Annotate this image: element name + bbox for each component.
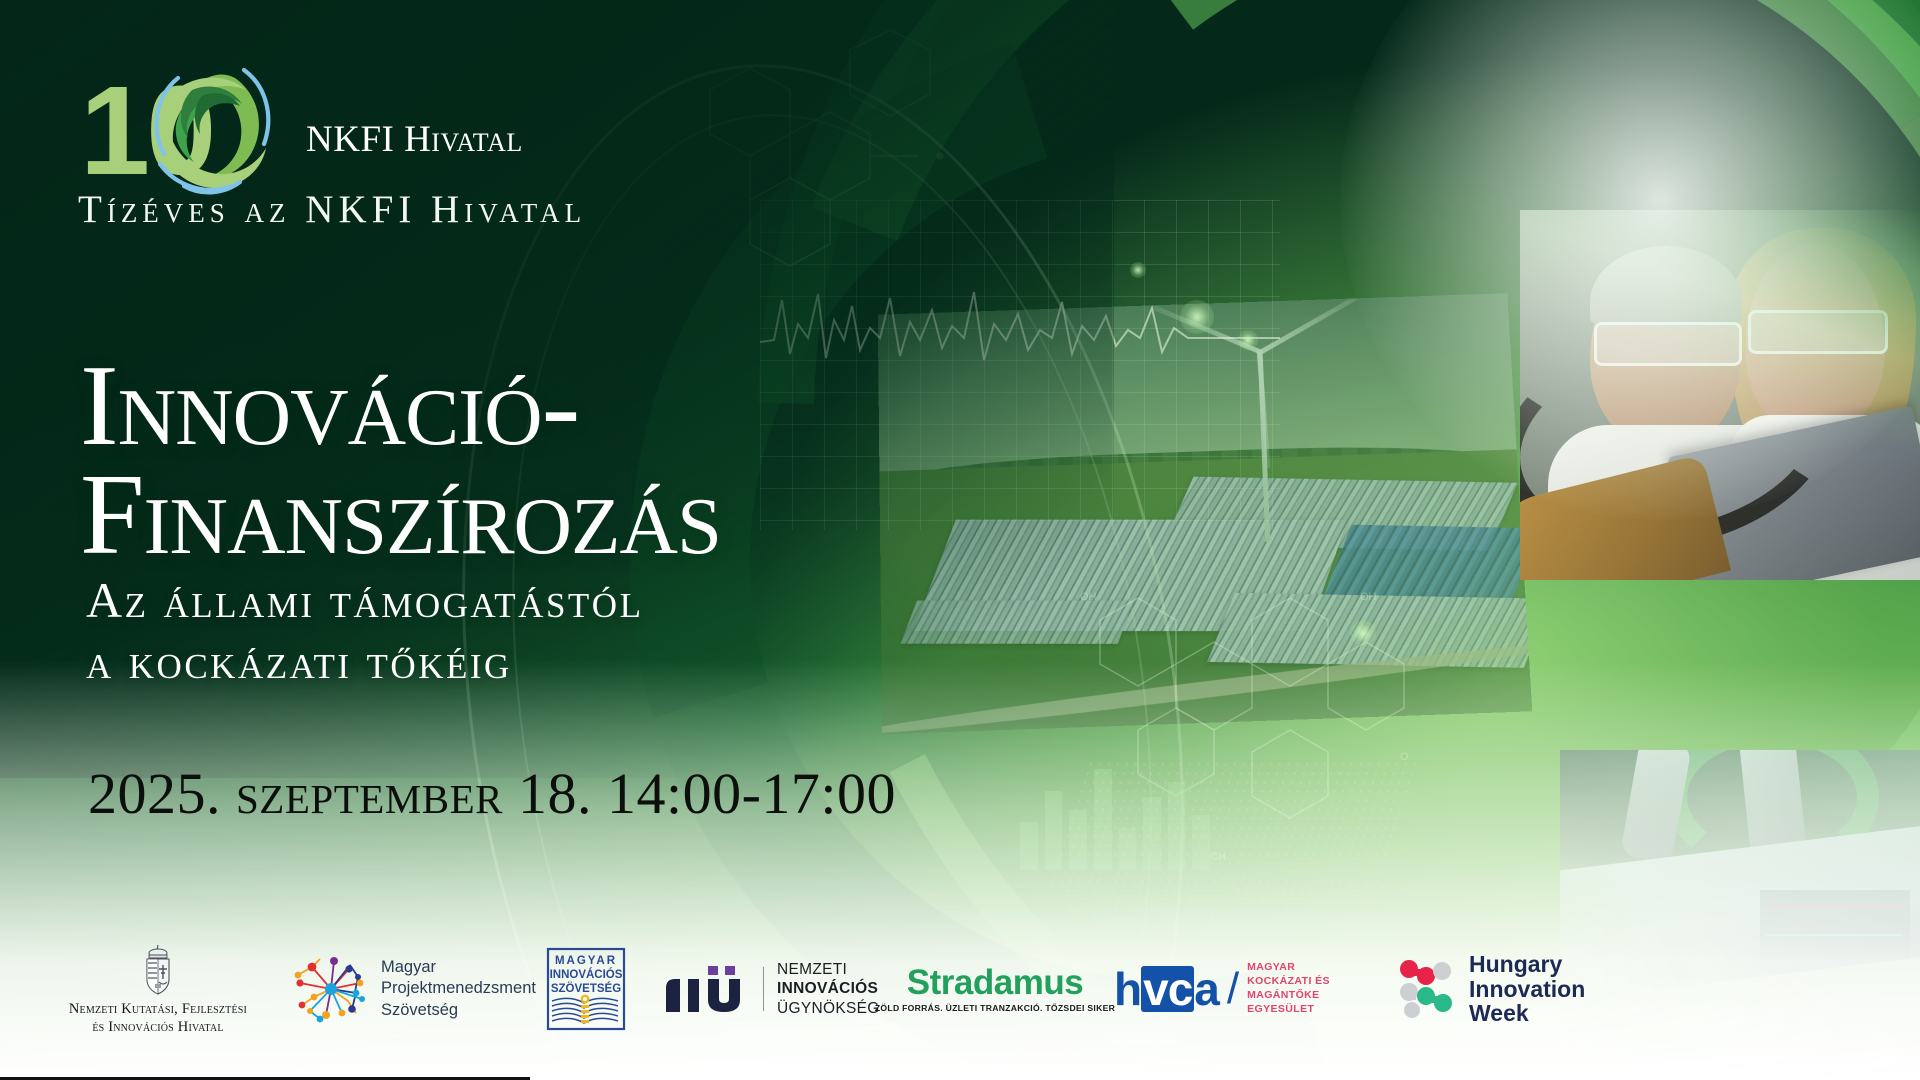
divider (763, 967, 764, 1011)
network-nodes-icon (290, 953, 372, 1025)
page-subtitle: Az állami támogatástól a kockázati tőkéi… (86, 570, 986, 692)
subtitle-line-1: Az állami támogatástól (86, 570, 986, 631)
partner-name-line: ÜGYNÖKSÉG (777, 999, 880, 1019)
partner-name-line: Szövetség (381, 1000, 536, 1021)
partner-logo-hvca: hvca / MAGYAR KOCKÁZATI ÉS MAGÁNTŐKE EGY… (1114, 961, 1362, 1016)
partner-logo-hungary-innovation-week: Hungary Innovation Week (1396, 952, 1616, 1025)
hungary-coat-of-arms-icon (136, 941, 180, 997)
brand-block: 10 (78, 58, 838, 232)
partner-name-line: Innovation (1469, 977, 1585, 1001)
hvca-letter-h: h (1114, 966, 1141, 1012)
partner-name-line: NEMZETI (777, 960, 880, 980)
title-line-1: Innováció- (80, 352, 1100, 461)
hvca-subtitle: MAGYAR KOCKÁZATI ÉS MAGÁNTŐKE EGYESÜLET (1247, 961, 1362, 1016)
partner-name-mpsz: Magyar Projektmenedzsment Szövetség (381, 957, 536, 1021)
open-book-icon: MAGYAR INNOVÁCIÓS SZÖVETSÉG (546, 947, 626, 1031)
partner-logo-stradamus: Stradamus ZÖLD FORRÁS. ÜZLETI TRANZAKCIÓ… (910, 965, 1080, 1013)
brand-org-name: NKFI Hivatal (306, 118, 523, 183)
svg-text:INNOVÁCIÓS: INNOVÁCIÓS (550, 968, 623, 981)
partner-logo-misz: MAGYAR INNOVÁCIÓS SZÖVETSÉG (546, 947, 630, 1031)
partner-name-line: Hungary (1469, 952, 1585, 976)
event-datetime: 2025. szeptember 18. 14:00-17:00 (88, 760, 896, 827)
anniversary-10-logo: 10 (78, 58, 298, 183)
partner-name-line: MAGYAR KOCKÁZATI ÉS (1247, 961, 1362, 989)
partner-logo-strip: Nemzeti Kutatási, Fejlesztési és Innovác… (60, 930, 1590, 1048)
partner-name-line: Week (1469, 1001, 1585, 1025)
svg-text:SZÖVETSÉG: SZÖVETSÉG (551, 982, 621, 995)
partner-name-line: és Innovációs Hivatal (69, 1019, 247, 1037)
event-poster: OH OH CH O (0, 0, 1920, 1080)
four-dots-cluster-icon (1396, 958, 1458, 1020)
niu-wordmark-icon (664, 966, 750, 1012)
hvca-letter-a: a (1194, 966, 1219, 1012)
partner-name-line: MAGÁNTŐKE EGYESÜLET (1247, 989, 1362, 1017)
hvca-wordmark: hvca (1114, 966, 1219, 1012)
partner-logo-nkfi: Nemzeti Kutatási, Fejlesztési és Innovác… (60, 941, 256, 1036)
hvca-letters-vc: vc (1141, 966, 1194, 1012)
stradamus-tagline: ZÖLD FORRÁS. ÜZLETI TRANZAKCIÓ. TŐZSDEI … (875, 1003, 1115, 1013)
partner-name-line: INNOVÁCIÓS (777, 979, 880, 999)
title-line-2: Finanszírozás (80, 461, 1100, 570)
partner-name-line: Magyar (381, 957, 536, 978)
svg-text:MAGYAR: MAGYAR (555, 955, 617, 967)
page-title: Innováció- Finanszírozás (80, 352, 1100, 570)
subtitle-line-2: a kockázati tőkéig (86, 631, 986, 692)
partner-logo-niu: NEMZETI INNOVÁCIÓS ÜGYNÖKSÉG (664, 960, 876, 1019)
hvca-slash: / (1227, 964, 1239, 1014)
partner-name-hiw: Hungary Innovation Week (1469, 952, 1585, 1025)
partner-name-line: Nemzeti Kutatási, Fejlesztési (69, 1001, 247, 1019)
partner-name-line: Projektmenedzsment (381, 978, 536, 999)
event-datetime-text: 2025. szeptember 18. 14:00-17:00 (88, 760, 896, 827)
stradamus-wordmark: Stradamus (907, 965, 1083, 1000)
leaf-swirl-icon (140, 60, 280, 200)
partner-name-nkfi: Nemzeti Kutatási, Fejlesztési és Innovác… (69, 1001, 247, 1036)
partner-logo-mpsz: Magyar Projektmenedzsment Szövetség (290, 953, 512, 1025)
partner-name-niu: NEMZETI INNOVÁCIÓS ÜGYNÖKSÉG (777, 960, 880, 1019)
